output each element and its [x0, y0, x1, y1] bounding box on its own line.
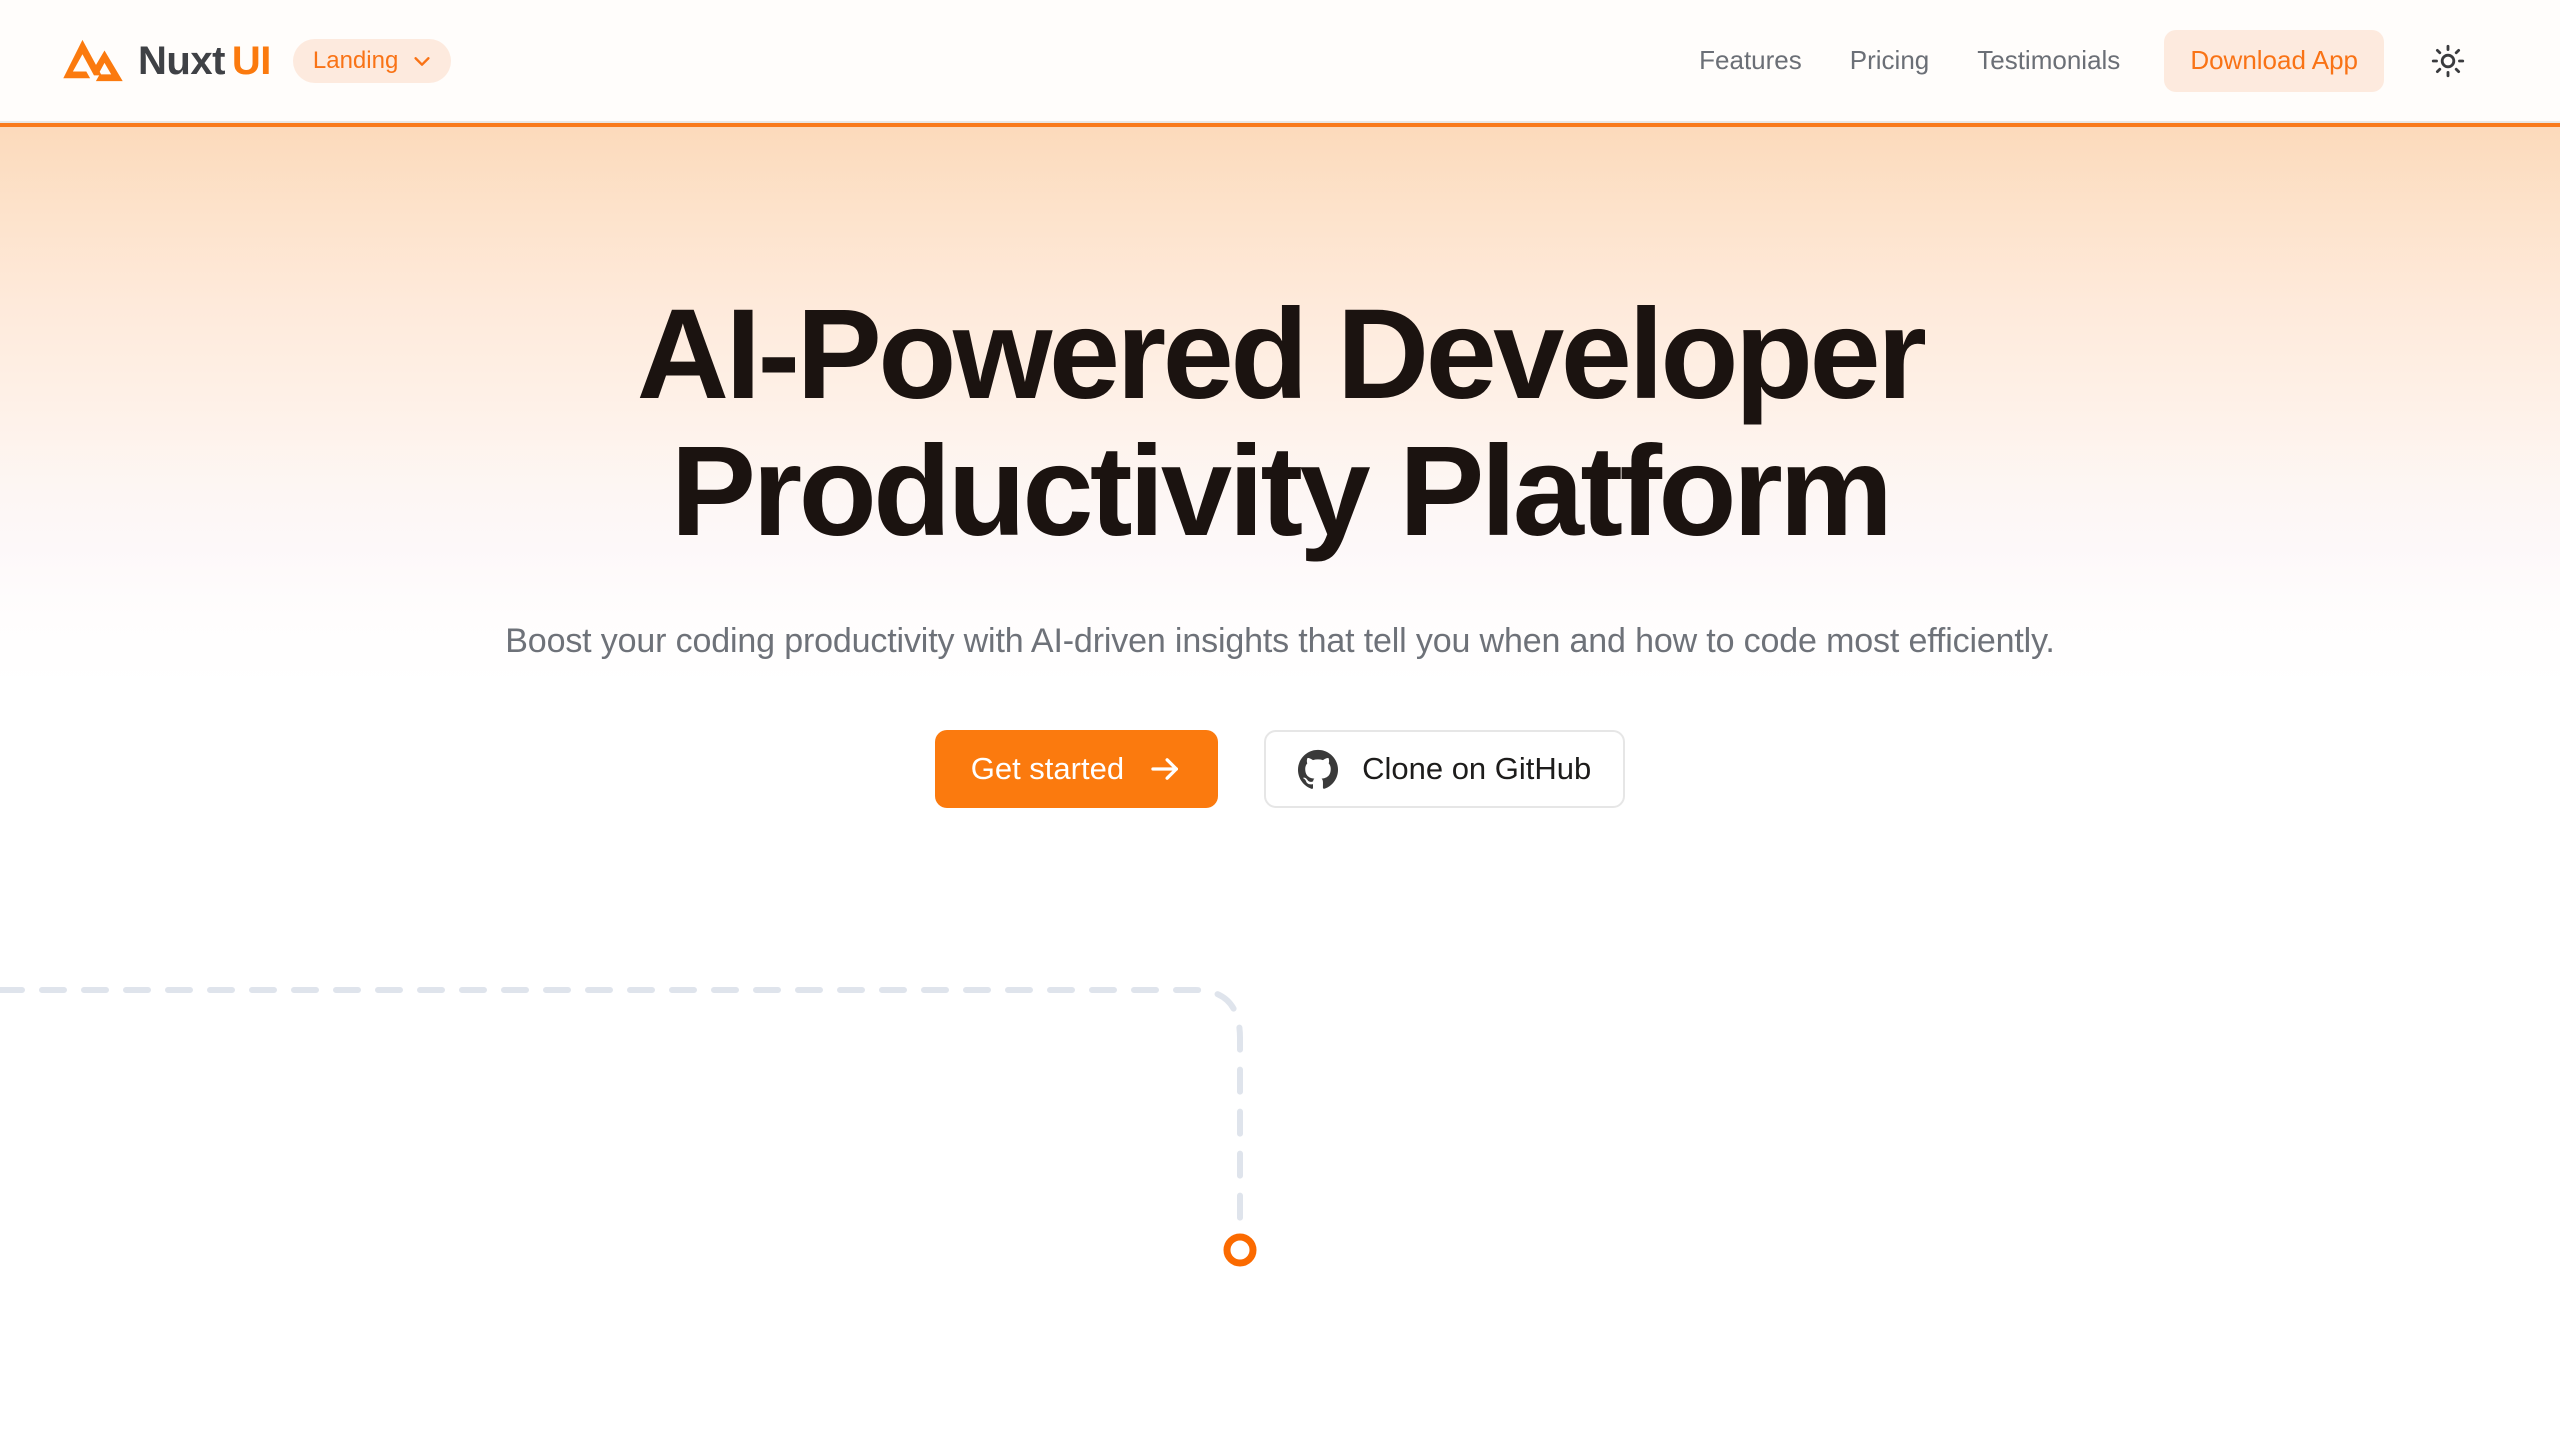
- nav-link-testimonials[interactable]: Testimonials: [1953, 45, 2144, 76]
- brand-name: NuxtUI: [138, 41, 271, 81]
- download-app-button[interactable]: Download App: [2164, 30, 2384, 92]
- nav-link-features[interactable]: Features: [1675, 45, 1826, 76]
- landing-badge-label: Landing: [313, 47, 398, 75]
- nuxt-logo-icon: [62, 38, 124, 84]
- orange-circle-node: [1227, 1237, 1253, 1263]
- hero-headline-line-2: Productivity Platform: [0, 424, 2560, 561]
- brand-suffix: UI: [232, 39, 271, 83]
- page-root: NuxtUI Landing Features Pricing Testimon…: [0, 0, 2560, 1440]
- site-header: NuxtUI Landing Features Pricing Testimon…: [0, 0, 2560, 123]
- arrow-right-icon: [1148, 752, 1182, 786]
- hero-headline-line-1: AI-Powered Developer: [637, 283, 1924, 426]
- brand-logo[interactable]: NuxtUI Landing: [62, 38, 451, 84]
- decorative-connector: [0, 972, 1400, 1312]
- nav-link-pricing[interactable]: Pricing: [1826, 45, 1953, 76]
- dashed-connector-path: [0, 990, 1240, 1232]
- hero-headline: AI-Powered Developer Productivity Platfo…: [0, 287, 2560, 561]
- landing-dropdown-badge[interactable]: Landing: [293, 39, 451, 83]
- header-accent-rule: [0, 123, 2560, 127]
- hero-section: AI-Powered Developer Productivity Platfo…: [0, 127, 2560, 1440]
- hero-content: AI-Powered Developer Productivity Platfo…: [0, 127, 2560, 808]
- sun-icon: [2431, 44, 2465, 78]
- clone-on-github-label: Clone on GitHub: [1362, 751, 1591, 787]
- primary-nav: Features Pricing Testimonials Download A…: [1675, 30, 2474, 92]
- hero-subheadline: Boost your coding productivity with AI-d…: [0, 617, 2560, 666]
- get-started-button[interactable]: Get started: [935, 730, 1218, 808]
- theme-toggle-button[interactable]: [2422, 35, 2474, 87]
- hero-cta-row: Get started Clone on GitHub: [0, 730, 2560, 808]
- chevron-down-icon: [411, 50, 433, 72]
- github-icon: [1298, 749, 1338, 789]
- get-started-label: Get started: [971, 751, 1124, 787]
- clone-on-github-button[interactable]: Clone on GitHub: [1264, 730, 1625, 808]
